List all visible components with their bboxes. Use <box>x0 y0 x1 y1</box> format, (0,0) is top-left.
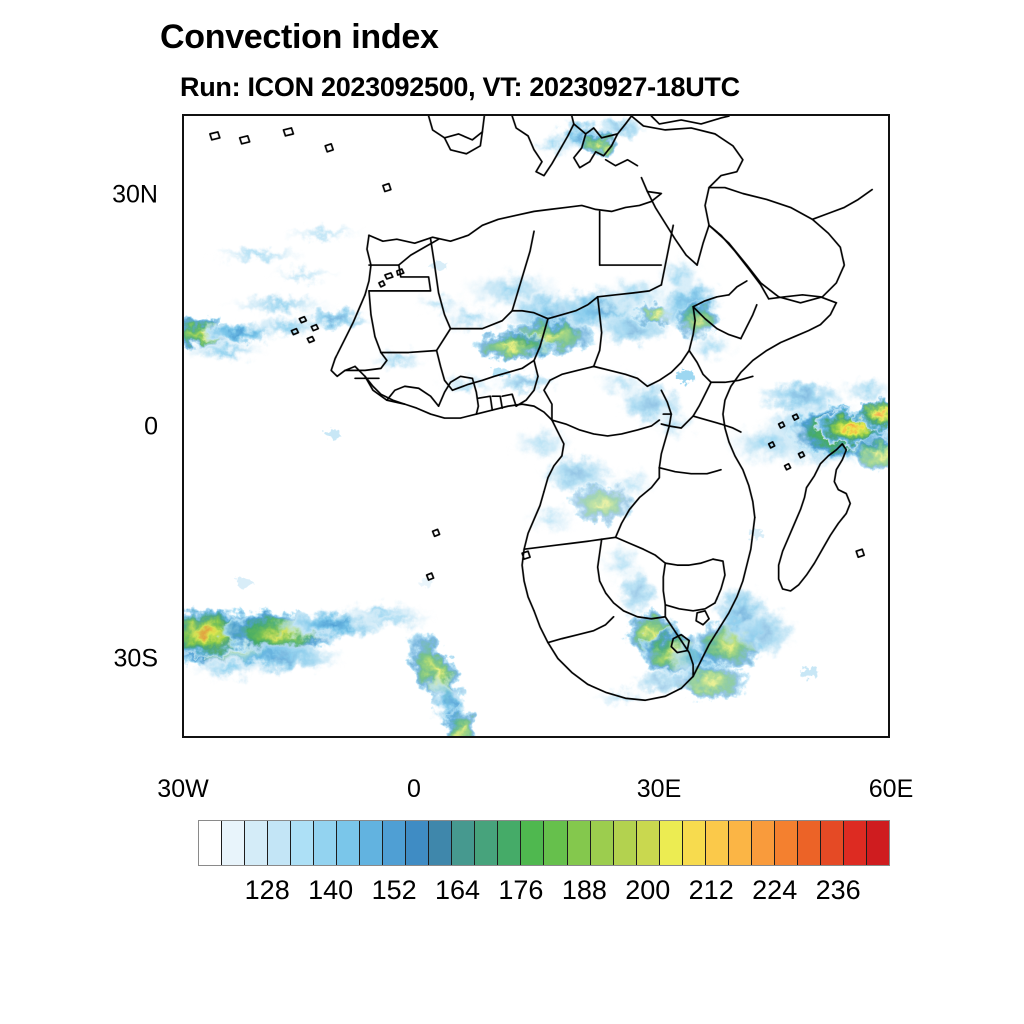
colorbar-cell-14 <box>521 821 544 865</box>
colorbar-cell-29 <box>867 821 889 865</box>
y-tick-minor-10s <box>182 506 184 508</box>
colorbar-cell-27 <box>821 821 844 865</box>
colorbar-tick-128: 128 <box>245 875 290 906</box>
x-axis-label-0: 0 <box>407 775 421 804</box>
colorbar-cell-22 <box>706 821 729 865</box>
colorbar-cell-9 <box>406 821 429 865</box>
colorbar-cell-19 <box>637 821 660 865</box>
colorbar-tick-236: 236 <box>816 875 861 906</box>
colorbar-tick-labels: 128140152164176188200212224236 <box>198 875 890 909</box>
map-plot-area <box>182 114 890 738</box>
colorbar-tick-152: 152 <box>372 875 417 906</box>
x-axis-label-60e: 60E <box>869 775 913 804</box>
page-subtitle: Run: ICON 2023092500, VT: 20230927-18UTC <box>180 72 740 103</box>
colorbar-cell-28 <box>844 821 867 865</box>
colorbar-cell-1 <box>222 821 245 865</box>
colorbar-cell-17 <box>591 821 614 865</box>
colorbar-cell-16 <box>568 821 591 865</box>
colorbar-cell-21 <box>683 821 706 865</box>
colorbar-cell-24 <box>752 821 775 865</box>
colorbar-cell-0 <box>199 821 222 865</box>
page-title: Convection index <box>160 18 439 57</box>
x-axis-label-30w: 30W <box>157 775 208 804</box>
y-tick-30n <box>182 196 184 198</box>
colorbar-cell-18 <box>614 821 637 865</box>
colorbar-tick-164: 164 <box>435 875 480 906</box>
y-axis-label-0: 0 <box>96 413 158 442</box>
colorbar-cell-4 <box>291 821 314 865</box>
y-axis-label-30n: 30N <box>96 181 158 210</box>
colorbar-tick-176: 176 <box>498 875 543 906</box>
y-axis-label-30s: 30S <box>96 645 158 674</box>
map-canvas <box>184 116 888 736</box>
colorbar-cell-26 <box>798 821 821 865</box>
y-tick-0 <box>182 428 184 430</box>
colorbar-cell-25 <box>775 821 798 865</box>
x-axis-label-30e: 30E <box>637 775 681 804</box>
colorbar-tick-140: 140 <box>308 875 353 906</box>
colorbar-cell-8 <box>383 821 406 865</box>
y-tick-30s <box>182 661 184 663</box>
colorbar-cell-13 <box>498 821 521 865</box>
colorbar-cell-12 <box>475 821 498 865</box>
colorbar-tick-188: 188 <box>562 875 607 906</box>
colorbar-cell-23 <box>729 821 752 865</box>
colorbar-cell-11 <box>452 821 475 865</box>
colorbar-cell-6 <box>337 821 360 865</box>
colorbar-cell-2 <box>245 821 268 865</box>
y-tick-minor-20n <box>182 351 184 353</box>
colorbar-cell-3 <box>268 821 291 865</box>
map-clip <box>184 116 888 736</box>
colorbar-cell-7 <box>360 821 383 865</box>
colorbar-tick-200: 200 <box>625 875 670 906</box>
colorbar-tick-224: 224 <box>752 875 797 906</box>
colorbar-cell-20 <box>660 821 683 865</box>
y-tick-minor-15n <box>182 273 184 275</box>
convection-field <box>184 116 888 736</box>
colorbar-cell-10 <box>429 821 452 865</box>
colorbar-cell-15 <box>544 821 567 865</box>
y-tick-minor-20s <box>182 584 184 586</box>
colorbar-tick-212: 212 <box>689 875 734 906</box>
figure-canvas: Convection index Run: ICON 2023092500, V… <box>0 0 1024 1024</box>
colorbar-cell-5 <box>314 821 337 865</box>
colorbar <box>198 820 890 866</box>
